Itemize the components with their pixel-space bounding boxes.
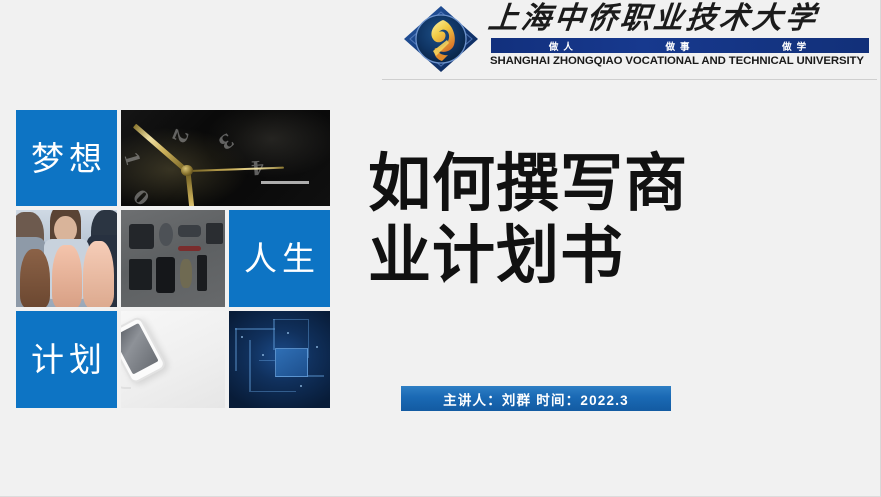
slide-title-line-1: 如何撰写商 <box>368 148 838 220</box>
collage-tile-life: 人生 <box>229 210 330 307</box>
thumb-up-1 <box>20 249 50 307</box>
motto-item-2: 做事 <box>665 39 694 53</box>
circuit-node <box>287 332 289 334</box>
desk-item-watch <box>180 259 191 288</box>
circuit-trace <box>235 328 275 330</box>
circuit-trace <box>249 340 251 390</box>
circuit-trace <box>249 391 295 393</box>
circuit-node <box>316 346 318 348</box>
university-motto-bar: 做人 做事 做学 <box>491 38 869 53</box>
circuit-processor-chip <box>275 348 307 377</box>
thumb-up-2 <box>52 245 81 307</box>
clock-numeral-3: 3 <box>214 128 238 154</box>
presentation-slide: 上海中侨职业技术大学 做人 做事 做学 SHANGHAI ZHONGQIAO V… <box>0 0 881 497</box>
circuit-trace <box>273 319 307 321</box>
collage-photo-desk-flatlay <box>121 210 225 307</box>
desk-item-bag <box>129 224 154 249</box>
clock-numeral-1: 1 <box>121 150 144 169</box>
collage-tile-plan: 计划 <box>16 311 117 408</box>
collage-tile-dream-label: 梦想 <box>26 142 107 175</box>
desk-item-sunglasses <box>178 225 201 238</box>
clock-pivot <box>181 165 193 176</box>
desk-item-wallet <box>129 259 152 290</box>
motto-item-1: 做人 <box>549 39 578 53</box>
presenter-info-bar: 主讲人：刘群 时间：2022.3 <box>401 386 671 411</box>
collage-photo-thumbs-up <box>16 210 117 307</box>
clock-tick-bar <box>261 181 309 184</box>
circuit-trace <box>235 328 237 371</box>
thumb-up-3 <box>83 241 114 307</box>
circuit-trace <box>273 319 275 350</box>
desk-item-pen <box>178 246 201 251</box>
circuit-node <box>241 336 243 338</box>
earphone-cord <box>121 375 131 389</box>
image-collage: 梦想 1 2 3 4 0 <box>16 110 330 410</box>
collage-tile-life-label: 人生 <box>239 242 320 275</box>
header-divider <box>382 79 877 80</box>
slide-title-line-2: 业计划书 <box>368 220 838 292</box>
presenter-info-text: 主讲人：刘群 时间：2022.3 <box>443 389 629 409</box>
university-logo-icon <box>402 4 480 74</box>
clock-minute-hand <box>188 166 284 172</box>
circuit-node <box>262 354 264 356</box>
collage-tile-dream: 梦想 <box>16 110 117 206</box>
desk-item-flashlight <box>197 255 207 292</box>
circuit-node <box>300 385 302 387</box>
desk-item-glasses <box>159 223 173 246</box>
university-name-block: 上海中侨职业技术大学 做人 做事 做学 SHANGHAI ZHONGQIAO V… <box>490 2 874 76</box>
clock-numeral-0: 0 <box>128 185 153 206</box>
collage-photo-clock: 1 2 3 4 0 <box>121 110 330 206</box>
collage-photo-white-phone <box>121 311 225 408</box>
university-name-cn: 上海中侨职业技术大学 <box>486 2 874 36</box>
smartphone-screen <box>121 322 159 374</box>
desk-item-card <box>206 223 223 244</box>
university-name-en: SHANGHAI ZHONGQIAO VOCATIONAL AND TECHNI… <box>490 55 874 67</box>
desk-item-phone <box>156 257 175 294</box>
university-header: 上海中侨职业技术大学 做人 做事 做学 SHANGHAI ZHONGQIAO V… <box>398 2 876 76</box>
collage-photo-circuit-board <box>229 311 330 408</box>
slide-title: 如何撰写商 业计划书 <box>368 148 838 292</box>
collage-tile-plan-label: 计划 <box>26 343 107 376</box>
clock-second-hand <box>185 172 197 206</box>
motto-item-3: 做学 <box>782 39 811 53</box>
clock-numeral-2: 2 <box>167 126 192 147</box>
circuit-trace <box>308 319 310 358</box>
